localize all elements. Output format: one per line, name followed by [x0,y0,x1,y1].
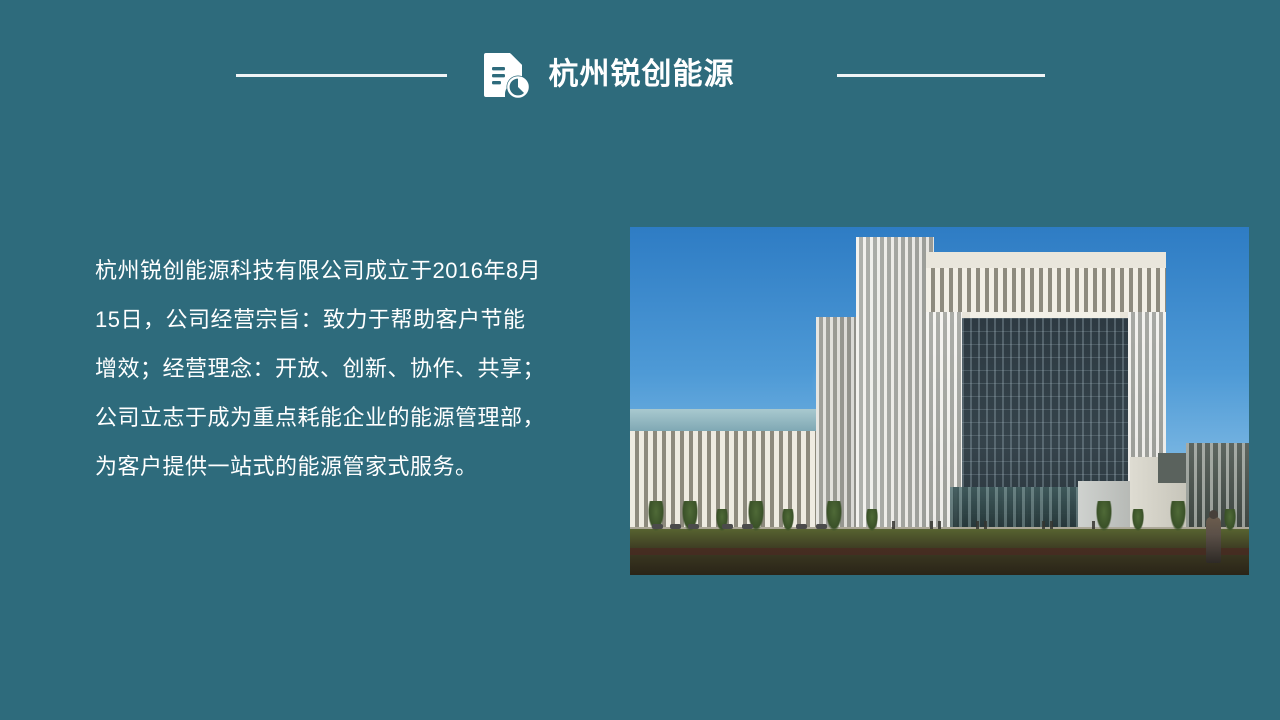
company-description: 杭州锐创能源科技有限公司成立于2016年8月 15日，公司经营宗旨：致力于帮助客… [95,246,595,491]
tree [826,501,842,531]
slide-root: 杭州锐创能源 杭州锐创能源科技有限公司成立于2016年8月 15日，公司经营宗旨… [0,0,1280,720]
description-line: 为客户提供一站式的能源管家式服务。 [95,442,595,491]
pedestrian [1092,521,1095,529]
description-line: 公司立志于成为重点耗能企业的能源管理部， [95,393,595,442]
slide-header: 杭州锐创能源 [0,46,1280,104]
tree [782,509,794,531]
parked-car [796,524,807,529]
brand-title: 杭州锐创能源 [549,60,735,90]
header-rule-left [236,74,447,77]
facade-grid [856,237,934,527]
parked-car [816,524,827,529]
pedestrian [930,521,933,529]
tree [1224,509,1236,531]
parked-car [722,524,733,529]
glass-roof-band [630,409,830,431]
pedestrian [1042,521,1045,529]
pedestrian [1050,521,1053,529]
pedestrian [984,521,987,529]
parked-car [742,524,753,529]
brand-lockup: 杭州锐创能源 [480,49,735,101]
tree [1096,501,1112,531]
soffit-light [970,312,1120,318]
parked-car [652,524,663,529]
building-photo [630,227,1249,575]
parked-car [670,524,681,529]
header-rule-right [837,74,1045,77]
pedestrian [892,521,895,529]
tree [866,509,878,531]
roof-fins [926,268,1166,312]
document-chart-icon [480,49,532,101]
tree [1170,501,1186,531]
description-line: 增效；经营理念：开放、创新、协作、共享； [95,344,595,393]
description-line: 杭州锐创能源科技有限公司成立于2016年8月 [95,246,595,295]
foreground-person [1206,517,1221,563]
description-line: 15日，公司经营宗旨：致力于帮助客户节能 [95,295,595,344]
pedestrian [938,521,941,529]
parked-car [688,524,699,529]
tree [1132,509,1144,531]
pedestrian [976,521,979,529]
road-strip [630,548,1249,555]
light-tower-building [856,237,934,527]
roof-cap [926,252,1166,268]
